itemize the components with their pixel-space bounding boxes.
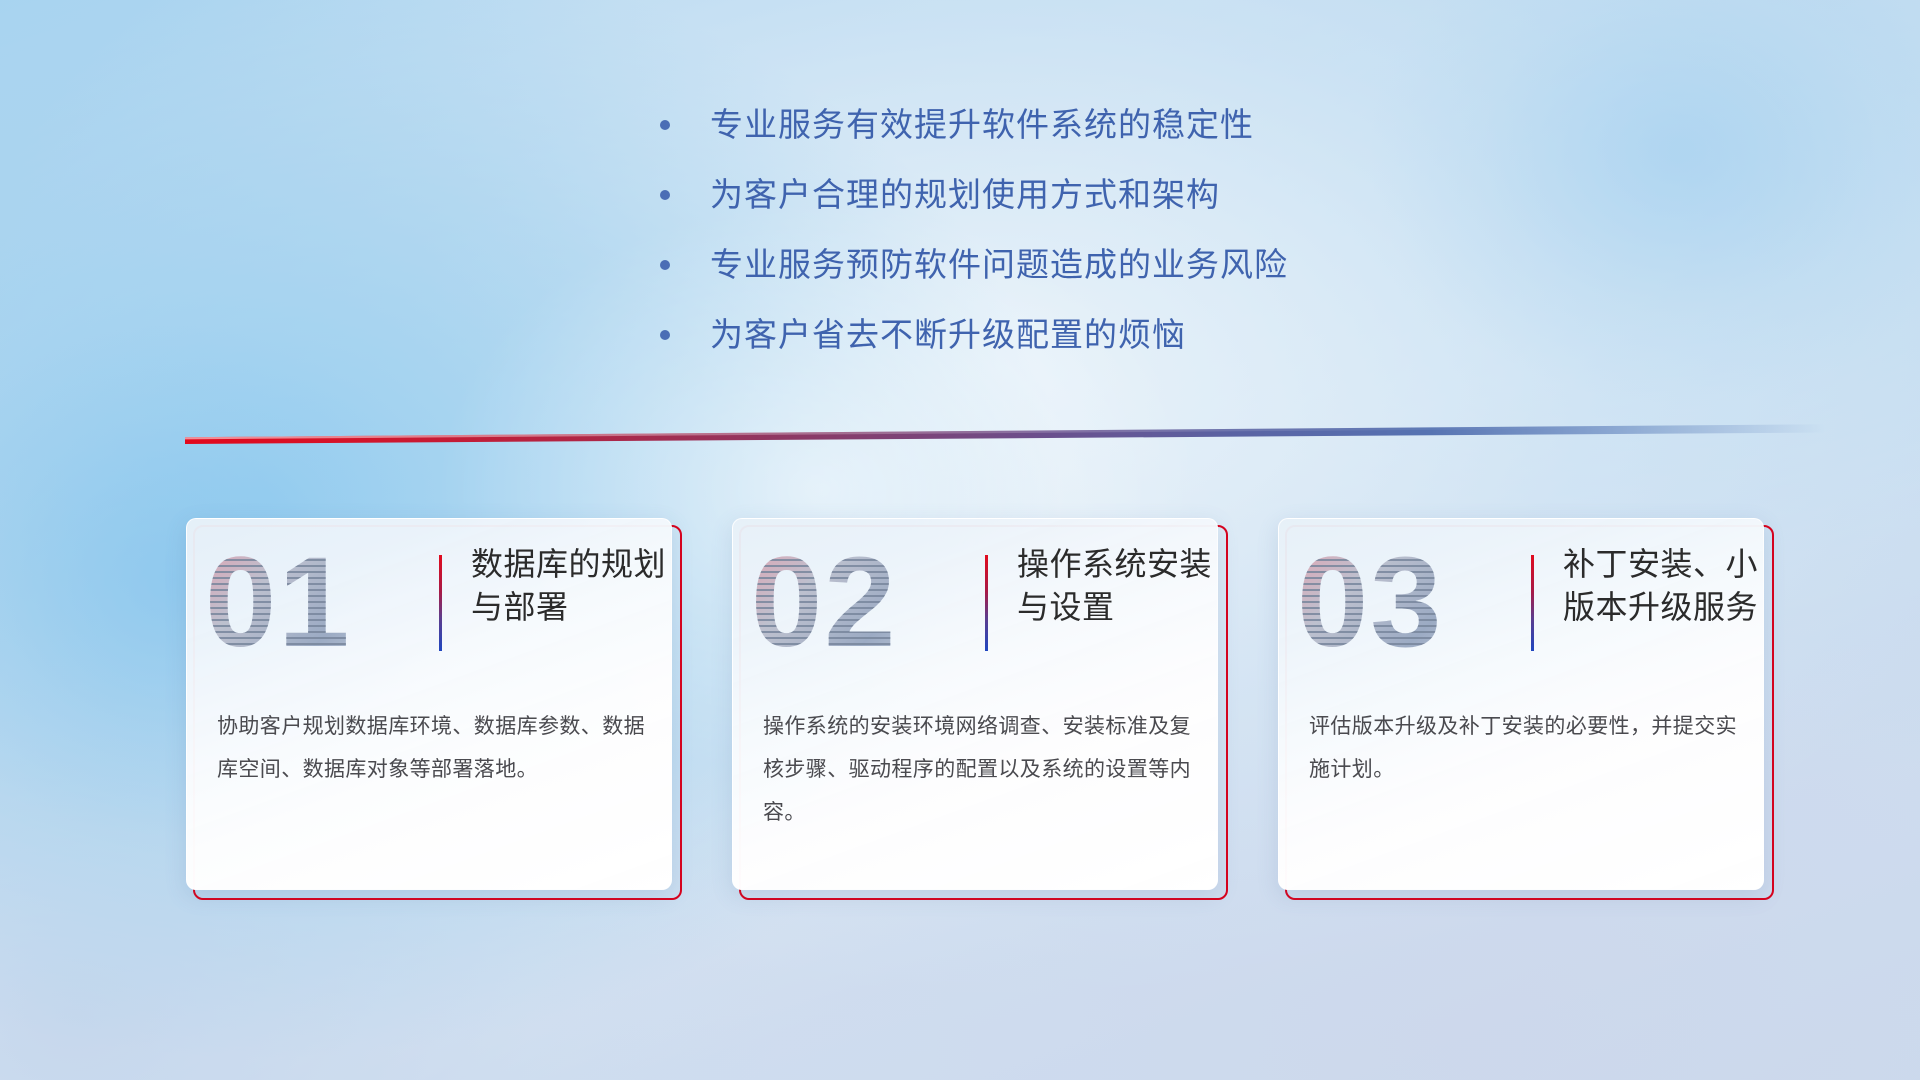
bullet-text: 为客户合理的规划使用方式和架构: [710, 176, 1220, 214]
card-body-text: 协助客户规划数据库环境、数据库参数、数据库空间、数据库对象等部署落地。: [217, 705, 647, 791]
card-accent-bar: [985, 555, 988, 651]
list-item: 为客户合理的规划使用方式和架构: [660, 176, 1500, 214]
card-accent-bar: [439, 555, 442, 651]
card-header: 03 补丁安装、小版本升级服务: [1279, 519, 1763, 687]
section-divider: [185, 418, 1825, 444]
list-item: 为客户省去不断升级配置的烦恼: [660, 316, 1500, 354]
card-number-watermark: 01: [205, 535, 425, 671]
card-number-watermark: 03: [1297, 535, 1517, 671]
list-item: 专业服务预防软件问题造成的业务风险: [660, 246, 1500, 284]
list-item: 专业服务有效提升软件系统的稳定性: [660, 106, 1500, 144]
bullet-text: 为客户省去不断升级配置的烦恼: [710, 316, 1186, 354]
card-title: 数据库的规划与部署: [471, 543, 667, 629]
card-face: 02 操作系统安装与设置 操作系统的安装环境网络调查、安装标准及复核步骤、驱动程…: [732, 518, 1218, 890]
benefits-bullet-list: 专业服务有效提升软件系统的稳定性 为客户合理的规划使用方式和架构 专业服务预防软…: [660, 106, 1500, 386]
bullet-dot-icon: [660, 260, 670, 270]
card-face: 03 补丁安装、小版本升级服务 评估版本升级及补丁安装的必要性，并提交实施计划。: [1278, 518, 1764, 890]
card-title: 操作系统安装与设置: [1017, 543, 1213, 629]
bullet-text: 专业服务有效提升软件系统的稳定性: [710, 106, 1254, 144]
card-face: 01 数据库的规划与部署 协助客户规划数据库环境、数据库参数、数据库空间、数据库…: [186, 518, 672, 890]
bullet-dot-icon: [660, 190, 670, 200]
card-body-text: 操作系统的安装环境网络调查、安装标准及复核步骤、驱动程序的配置以及系统的设置等内…: [763, 705, 1193, 834]
slide-canvas: 专业服务有效提升软件系统的稳定性 为客户合理的规划使用方式和架构 专业服务预防软…: [0, 0, 1920, 1080]
service-card-03[interactable]: 03 补丁安装、小版本升级服务 评估版本升级及补丁安装的必要性，并提交实施计划。: [1278, 518, 1774, 900]
service-card-01[interactable]: 01 数据库的规划与部署 协助客户规划数据库环境、数据库参数、数据库空间、数据库…: [186, 518, 682, 900]
card-body-text: 评估版本升级及补丁安装的必要性，并提交实施计划。: [1309, 705, 1739, 791]
bullet-dot-icon: [660, 120, 670, 130]
card-number-watermark: 02: [751, 535, 971, 671]
card-header: 01 数据库的规划与部署: [187, 519, 671, 687]
card-header: 02 操作系统安装与设置: [733, 519, 1217, 687]
bullet-text: 专业服务预防软件问题造成的业务风险: [710, 246, 1288, 284]
service-card-group: 01 数据库的规划与部署 协助客户规划数据库环境、数据库参数、数据库空间、数据库…: [186, 518, 1786, 918]
card-title: 补丁安装、小版本升级服务: [1563, 543, 1759, 629]
service-card-02[interactable]: 02 操作系统安装与设置 操作系统的安装环境网络调查、安装标准及复核步骤、驱动程…: [732, 518, 1228, 900]
bullet-dot-icon: [660, 330, 670, 340]
card-accent-bar: [1531, 555, 1534, 651]
